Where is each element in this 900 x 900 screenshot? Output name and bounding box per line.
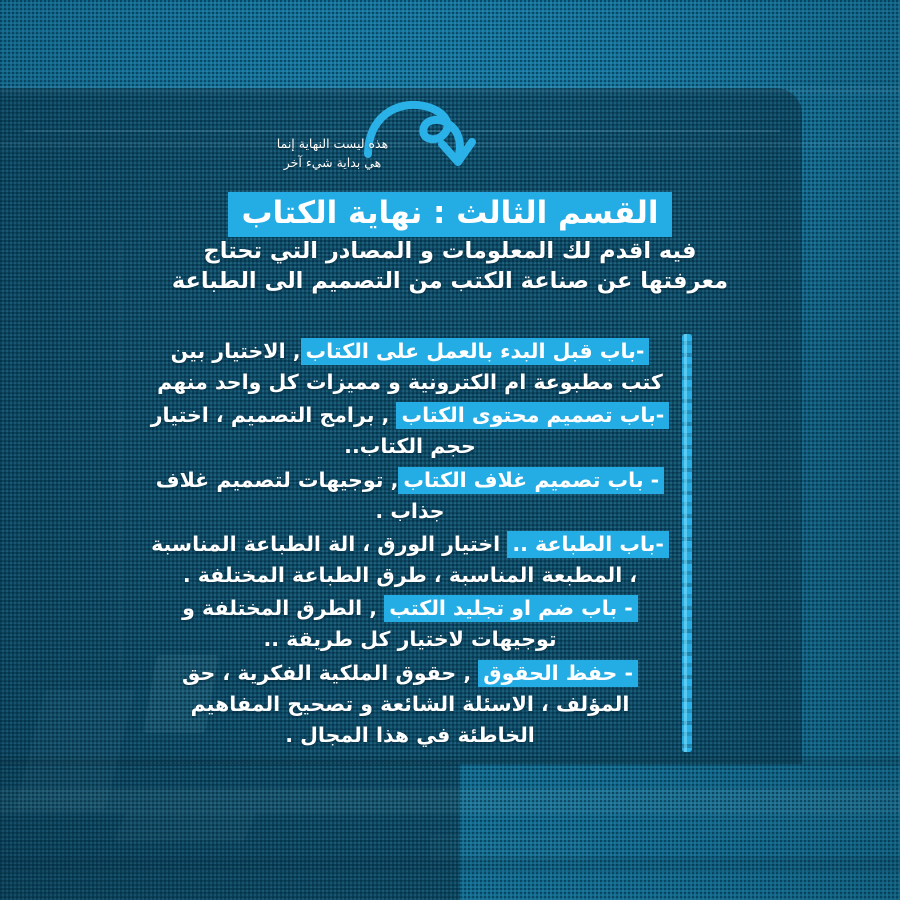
chapter-item-highlight: -باب تصميم محتوى الكتاب <box>396 402 669 429</box>
poster-canvas: هذه ليست النهاية إنما هي بداية شيء آخر ا… <box>0 0 900 900</box>
vertical-cyan-brush-stroke <box>682 334 692 752</box>
chapter-list: -باب قبل البدء بالعمل على الكتاب, الاختي… <box>150 336 670 753</box>
page-title-text: القسم الثالث : نهاية الكتاب <box>228 192 673 237</box>
poster-content: هذه ليست النهاية إنما هي بداية شيء آخر ا… <box>0 0 900 900</box>
chapter-list-item: -باب قبل البدء بالعمل على الكتاب, الاختي… <box>150 336 670 398</box>
note-line-1: هذه ليست النهاية إنما <box>255 134 410 153</box>
chapter-item-highlight: - باب تصميم غلاف الكتاب <box>398 467 664 494</box>
chapter-item-highlight: -باب قبل البدء بالعمل على الكتاب <box>301 338 650 365</box>
chapter-list-item: - حفظ الحقوق , حقوق الملكية الفكرية ، حق… <box>150 658 670 751</box>
chapter-item-highlight: - حفظ الحقوق <box>478 660 638 687</box>
chapter-list-item: -باب الطباعة .. اختيار الورق ، الة الطبا… <box>150 529 670 591</box>
chapter-list-item: - باب ضم او تجليد الكتب , الطرق المختلفة… <box>150 593 670 655</box>
chapter-item-highlight: -باب الطباعة .. <box>507 531 669 558</box>
note-line-2: هي بداية شيء آخر <box>255 153 410 172</box>
page-title: القسم الثالث : نهاية الكتاب <box>0 192 900 237</box>
subtitle-line-1: فيه اقدم لك المعلومات و المصادر التي تحت… <box>0 236 900 266</box>
page-subtitle: فيه اقدم لك المعلومات و المصادر التي تحت… <box>0 236 900 296</box>
handwritten-note: هذه ليست النهاية إنما هي بداية شيء آخر <box>255 134 410 173</box>
chapter-list-item: -باب تصميم محتوى الكتاب , برامج التصميم … <box>150 400 670 462</box>
chapter-list-item: - باب تصميم غلاف الكتاب, توجيهات لتصميم … <box>150 465 670 527</box>
chapter-item-highlight: - باب ضم او تجليد الكتب <box>384 595 638 622</box>
subtitle-line-2: معرفتها عن صناعة الكتب من التصميم الى ال… <box>0 266 900 296</box>
